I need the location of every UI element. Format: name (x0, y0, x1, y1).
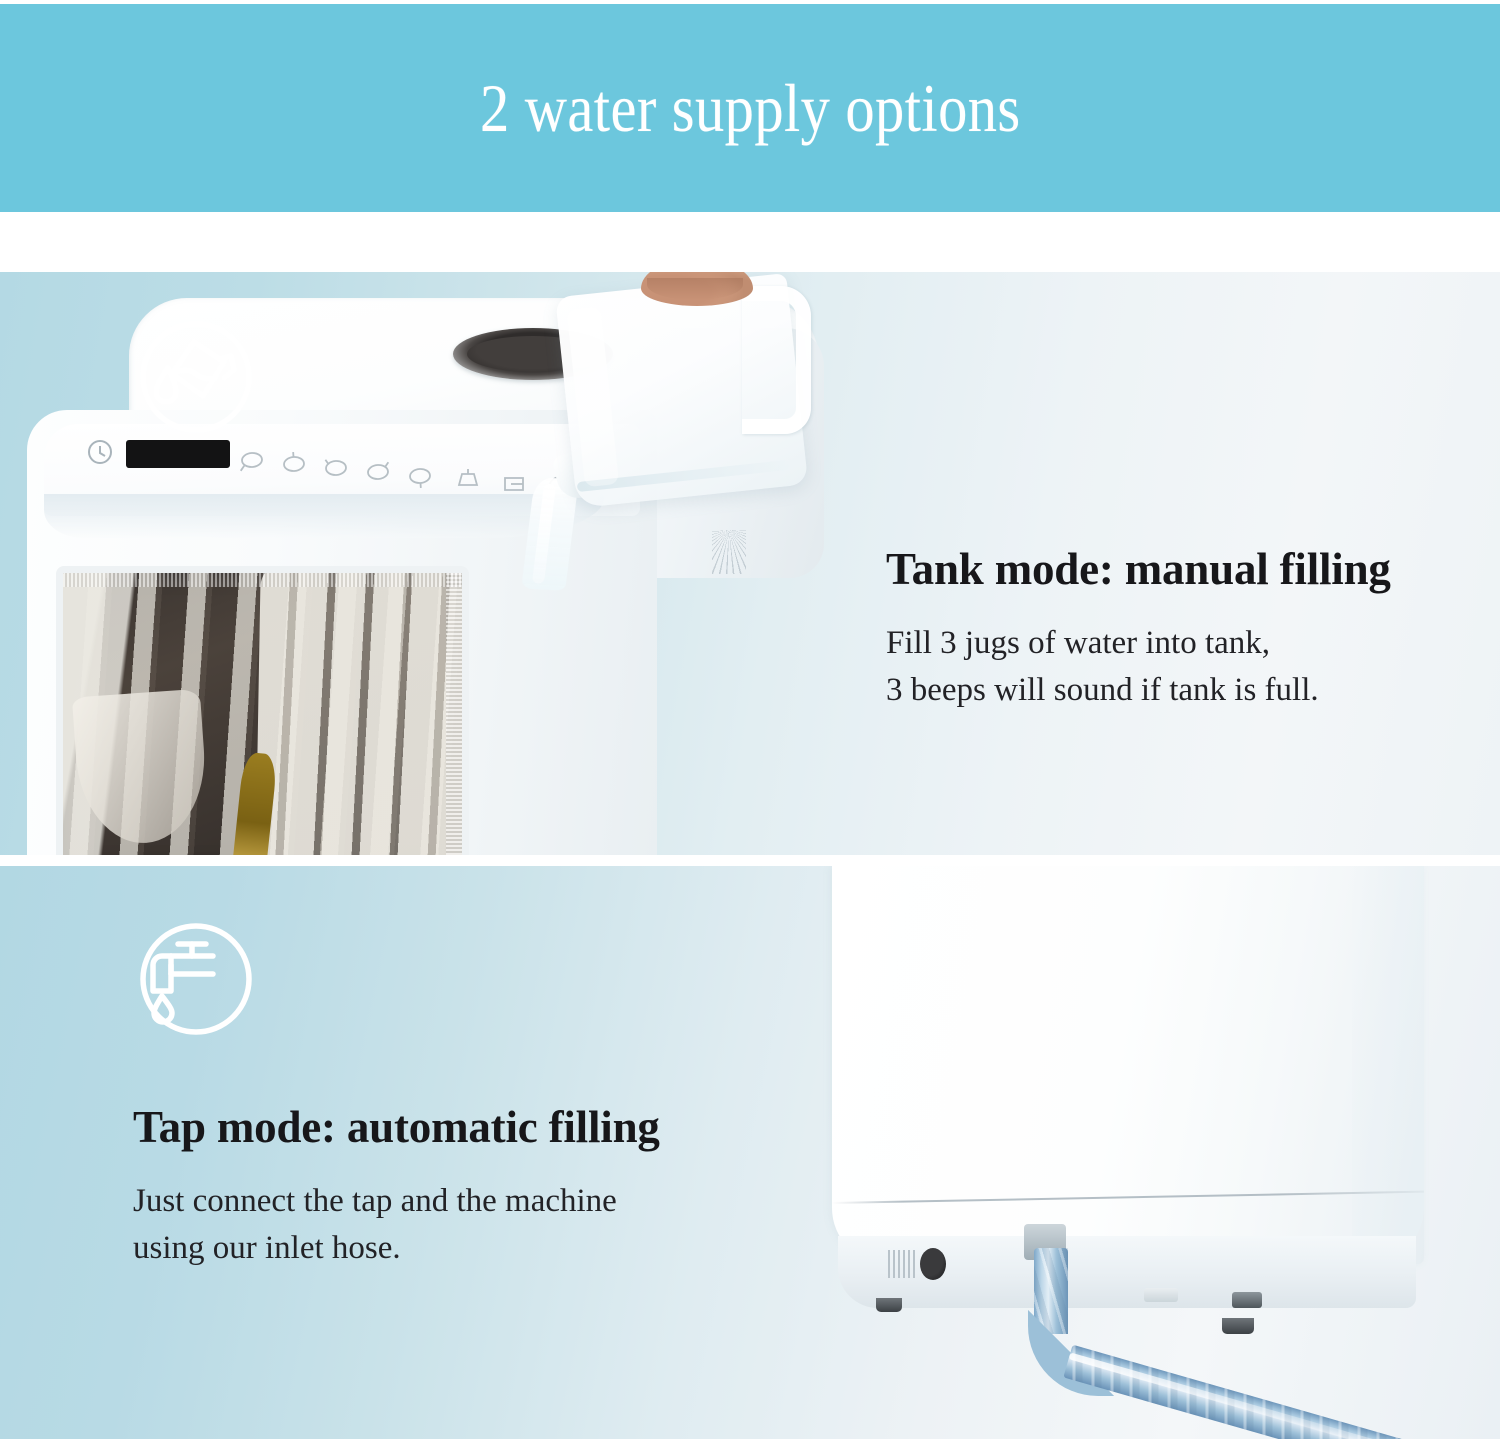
tap-mode-body-line-1: Just connect the tap and the machine (133, 1178, 660, 1225)
hand-holding-jug (641, 272, 753, 306)
dishwasher-rear-body (832, 866, 1424, 1264)
tap-mode-heading: Tap mode: automatic filling (133, 1102, 660, 1152)
window-edge-right (446, 573, 462, 855)
header-banner: 2 water supply options (0, 4, 1500, 212)
hose-texture-d (1063, 1345, 1500, 1439)
infographic-page: 2 water supply options (0, 0, 1500, 1439)
inlet-hose (1020, 1248, 1500, 1439)
tank-mode-body-line-1: Fill 3 jugs of water into tank, (886, 620, 1391, 667)
plates-stack (255, 566, 469, 855)
tap-mode-body-line-2: using our inlet hose. (133, 1225, 660, 1272)
base-vent-grille (888, 1250, 916, 1278)
tap-mode-body: Just connect the tap and the machine usi… (133, 1178, 660, 1272)
appliance-foot-left (876, 1298, 902, 1312)
tank-mode-heading: Tank mode: manual filling (886, 544, 1391, 594)
tank-mode-body: Fill 3 jugs of water into tank, 3 beeps … (886, 620, 1391, 714)
tank-mode-body-line-2: 3 beeps will sound if tank is full. (886, 667, 1391, 714)
lcd-display (126, 440, 230, 468)
jug-handle (742, 286, 811, 434)
page-title: 2 water supply options (480, 74, 1021, 142)
hose-diagonal-section (1063, 1345, 1500, 1439)
text-block-tap-mode: Tap mode: automatic filling Just connect… (133, 1102, 660, 1272)
faucet-drip-icon (131, 914, 261, 1044)
panel-tank-mode: Tank mode: manual filling Fill 3 jugs of… (0, 272, 1500, 855)
side-vent-icon (712, 530, 746, 574)
panel-tap-mode: Tap mode: automatic filling Just connect… (0, 866, 1500, 1439)
dishwasher-door-handle (44, 494, 604, 538)
water-jug-pour-icon (131, 312, 261, 442)
dishwasher-rear-corner (1352, 866, 1424, 1264)
text-block-tank-mode: Tank mode: manual filling Fill 3 jugs of… (886, 544, 1391, 714)
dishwasher-door-window (56, 566, 469, 855)
window-edge-top (63, 573, 462, 587)
base-drain-port (920, 1248, 946, 1280)
